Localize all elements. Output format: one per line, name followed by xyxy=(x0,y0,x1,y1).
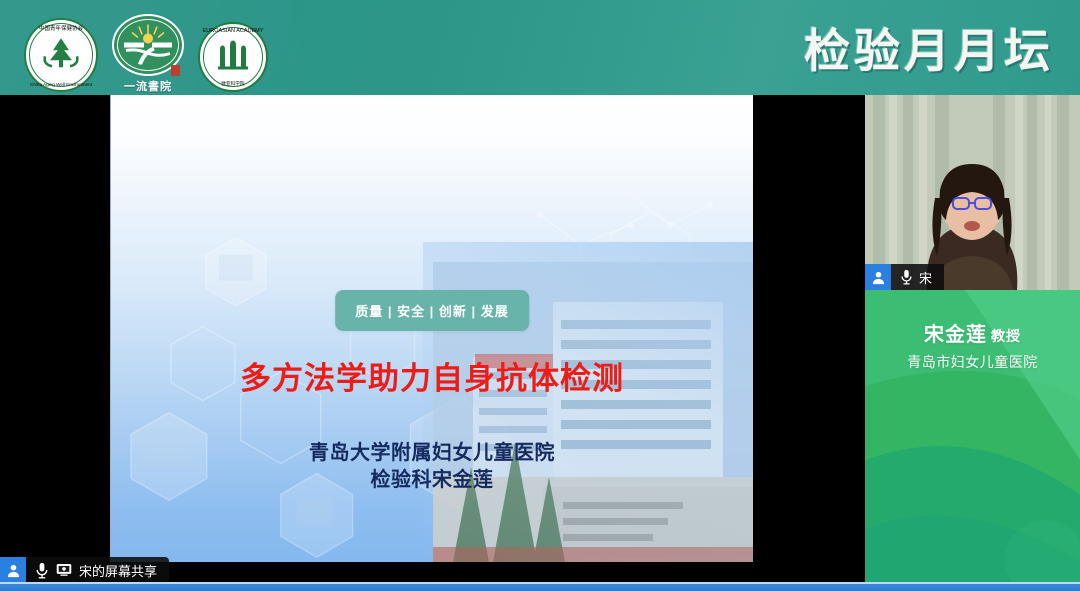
person-icon xyxy=(865,264,891,290)
speaker-rank: 教授 xyxy=(991,329,1021,345)
slide-date: ——2024年07月04日—— xyxy=(111,557,753,562)
eurasian-academy-logo: EUROASIAN ACADEMY 欧亚科学院 xyxy=(198,22,268,92)
speaker-name-line: 宋金莲教授 xyxy=(865,318,1080,347)
meeting-stage: 质量 | 安全 | 创新 | 发展 多方法学助力自身抗体检测 青岛大学附属妇女儿… xyxy=(0,95,1080,591)
slide-subtitle: 青岛大学附属妇女儿童医院 检验科宋金莲 xyxy=(111,439,753,493)
slide-badge: 质量 | 安全 | 创新 | 发展 xyxy=(335,290,529,331)
event-banner: 中国青年保健协会 China Aging Well Environment xyxy=(0,0,1080,95)
speaker-name: 宋金莲 xyxy=(924,322,987,346)
red-seal-icon xyxy=(171,65,180,76)
logo-ring-bottom-text: China Aging Well Environment xyxy=(24,82,98,87)
microphone-icon[interactable] xyxy=(32,562,52,579)
microphone-icon[interactable] xyxy=(897,269,915,285)
slide-subtitle-line2: 检验科宋金莲 xyxy=(111,466,753,493)
screen-share-icon[interactable] xyxy=(54,563,74,577)
screen-capture-window: 中国青年保健协会 China Aging Well Environment xyxy=(0,0,1080,591)
china-youth-environment-association-logo: 中国青年保健协会 China Aging Well Environment xyxy=(24,18,98,92)
logo-ring-top-text: EUROASIAN ACADEMY xyxy=(198,28,268,34)
slide-main-title: 多方法学助力自身抗体检测 xyxy=(111,353,753,398)
participant-name: 宋 xyxy=(919,268,932,287)
yiliu-academy-logo: 一流書院 YI LIU SHU YUAN xyxy=(112,14,184,92)
screen-share-label: 宋的屏幕共享 xyxy=(79,561,157,580)
screen-share-status-bar[interactable]: 宋的屏幕共享 xyxy=(0,557,169,583)
logo-caption: 一流書院 xyxy=(112,78,184,94)
building-arch-icon xyxy=(212,40,254,77)
slide-subtitle-line1: 青岛大学附属妇女儿童医院 xyxy=(111,439,753,466)
speaker-video-feed[interactable]: 宋 xyxy=(865,95,1080,290)
logo-ring-top-text: 中国青年保健协会 xyxy=(24,24,98,32)
speaker-video-panel[interactable]: 宋 宋金莲教授 青岛市妇女儿童医院 xyxy=(865,95,1080,591)
page-title: 检验月月坛 xyxy=(804,15,1054,81)
person-icon xyxy=(0,557,26,583)
logo-ring-bottom-text: 欧亚科学院 xyxy=(198,81,268,87)
participant-name-chip: 宋 xyxy=(865,264,944,290)
tree-recycle-icon xyxy=(41,36,81,75)
speaker-organization: 青岛市妇女儿童医院 xyxy=(865,352,1080,372)
sunrise-road-icon xyxy=(122,21,174,70)
organizer-logo-group: 中国青年保健协会 China Aging Well Environment xyxy=(24,14,268,92)
os-taskbar[interactable] xyxy=(0,582,1080,591)
taskbar-highlight xyxy=(0,582,1080,584)
shared-slide[interactable]: 质量 | 安全 | 创新 | 发展 多方法学助力自身抗体检测 青岛大学附属妇女儿… xyxy=(110,95,753,562)
speaker-info-card: 宋金莲教授 青岛市妇女儿童医院 xyxy=(865,290,1080,591)
